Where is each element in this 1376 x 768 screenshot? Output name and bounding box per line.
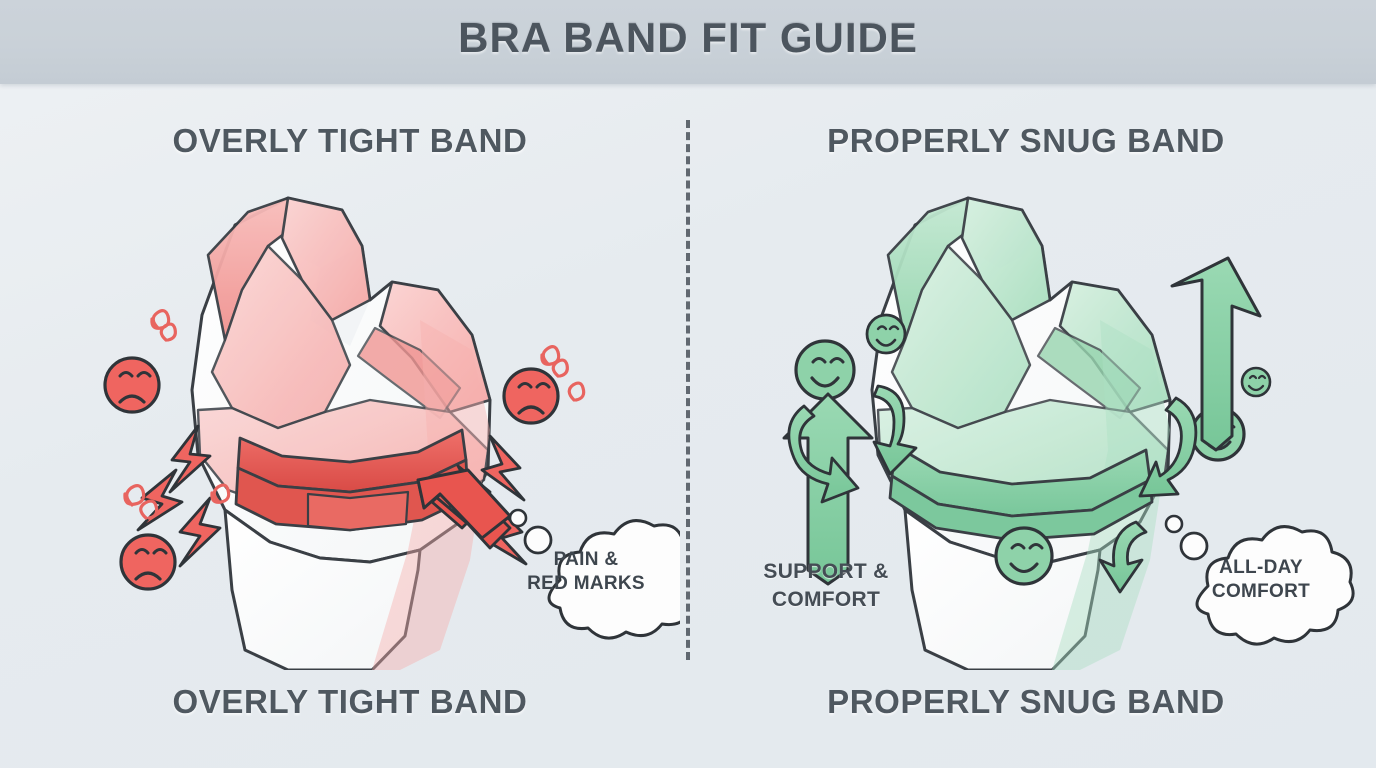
smiley-face-icon bbox=[996, 528, 1052, 584]
right-panel-footer: PROPERLY SNUG BAND bbox=[716, 683, 1336, 721]
thought-bubble-right bbox=[1166, 516, 1353, 644]
panel-divider bbox=[686, 120, 690, 660]
smiley-face-icon bbox=[1242, 368, 1270, 396]
sad-face-icon bbox=[121, 535, 175, 589]
left-panel-footer: OVERLY TIGHT BAND bbox=[40, 683, 660, 721]
header-bar: BRA BAND FIT GUIDE bbox=[0, 0, 1376, 84]
support-comfort-label: SUPPORT & COMFORT bbox=[742, 558, 910, 613]
smiley-face-icon bbox=[867, 315, 905, 353]
smiley-face-icon bbox=[796, 341, 854, 399]
support-comfort-line2: COMFORT bbox=[742, 586, 910, 614]
thought-bubble-left bbox=[510, 510, 680, 638]
support-comfort-line1: SUPPORT & bbox=[742, 558, 910, 586]
sad-face-icon bbox=[105, 358, 159, 412]
infographic-canvas: BRA BAND FIT GUIDE OVERLY TIGHT BAND PRO… bbox=[0, 0, 1376, 768]
sad-face-icon bbox=[504, 369, 558, 423]
left-illustration bbox=[20, 150, 680, 670]
page-title: BRA BAND FIT GUIDE bbox=[0, 14, 1376, 62]
